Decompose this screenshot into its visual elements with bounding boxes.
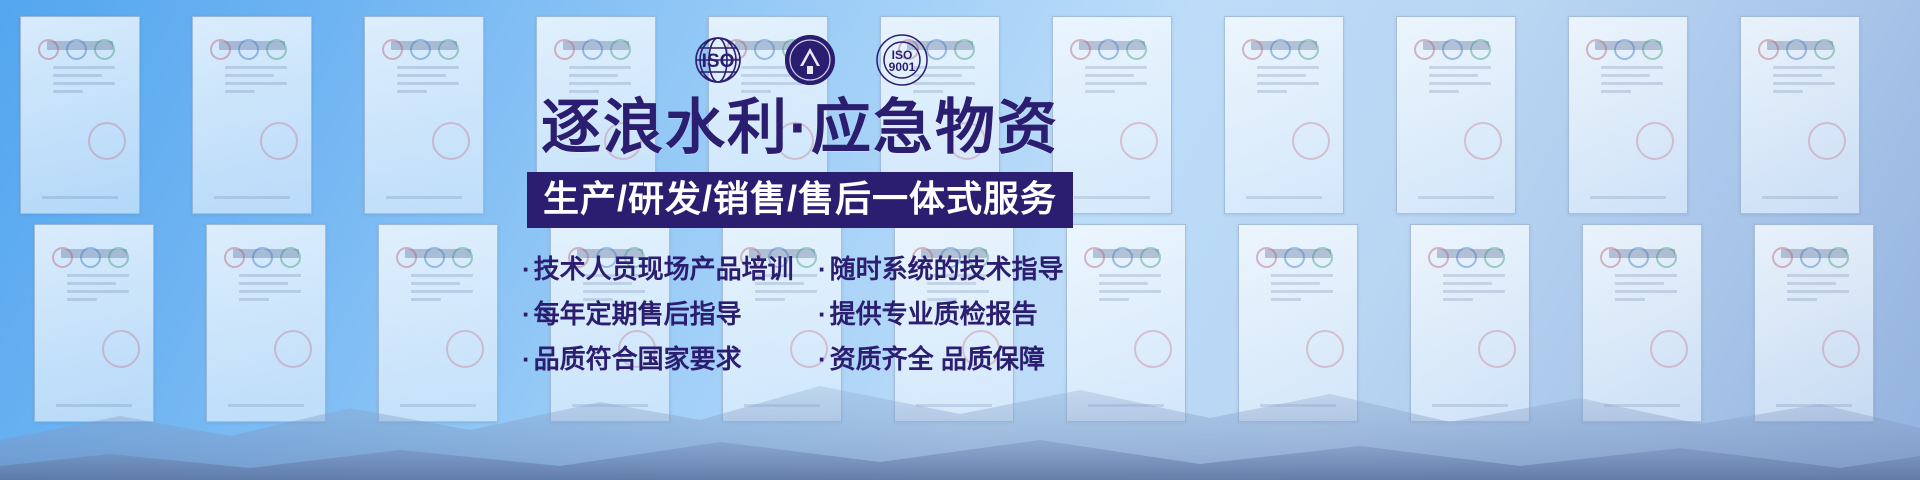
feature-label: 每年定期售后指导 [534,299,742,329]
feature-list: ·技术人员现场产品培训·随时系统的技术指导·每年定期售后指导·提供专业质检报告·… [522,254,1100,374]
certificate-thumbnail [364,16,484,214]
certificate-thumbnail [1224,16,1344,214]
certificate-thumbnail [1396,16,1516,214]
banner-content: 逐浪水利·应急物资 生产/研发/销售/售后一体式服务 ·技术人员现场产品培训·随… [500,96,1100,389]
promo-banner: ISO ISO 9001 逐浪 [0,0,1920,480]
certification-badges: ISO ISO 9001 [690,32,930,88]
feature-label: 品质符合国家要求 [534,344,742,374]
bullet-icon: · [522,254,531,284]
feature-item-right: ·资质齐全 品质保障 [818,344,1100,374]
bullet-icon: · [522,344,531,374]
feature-label: 资质齐全 品质保障 [830,344,1045,374]
feature-item-left: ·品质符合国家要求 [522,344,818,374]
subtitle-text: 生产/研发/销售/售后一体式服务 [543,178,1057,219]
bullet-icon: · [818,299,827,329]
subtitle-wrap: 生产/研发/销售/售后一体式服务 [500,160,1100,228]
feature-label: 技术人员现场产品培训 [534,254,794,284]
iso-globe-badge: ISO [690,32,746,88]
page-title: 逐浪水利·应急物资 [500,96,1100,160]
feature-row: ·技术人员现场产品培训·随时系统的技术指导 [522,254,1100,284]
bullet-icon: · [522,299,531,329]
certificate-thumbnail [20,16,140,214]
bullet-icon: · [818,254,827,284]
svg-text:9001: 9001 [889,60,916,74]
certificate-thumbnail [192,16,312,214]
feature-item-left: ·技术人员现场产品培训 [522,254,818,284]
svg-text:ISO: ISO [702,51,735,72]
feature-item-right: ·随时系统的技术指导 [818,254,1100,284]
feature-label: 随时系统的技术指导 [830,254,1064,284]
feature-item-right: ·提供专业质检报告 [818,299,1100,329]
feature-row: ·品质符合国家要求·资质齐全 品质保障 [522,344,1100,374]
iso9001-badge: ISO 9001 [874,32,930,88]
iso14000-badge [782,32,838,88]
subtitle-bar: 生产/研发/销售/售后一体式服务 [527,172,1073,228]
feature-item-left: ·每年定期售后指导 [522,299,818,329]
feature-row: ·每年定期售后指导·提供专业质检报告 [522,299,1100,329]
certificate-thumbnail [1740,16,1860,214]
bullet-icon: · [818,344,827,374]
feature-label: 提供专业质检报告 [830,299,1038,329]
certificate-thumbnail [1568,16,1688,214]
